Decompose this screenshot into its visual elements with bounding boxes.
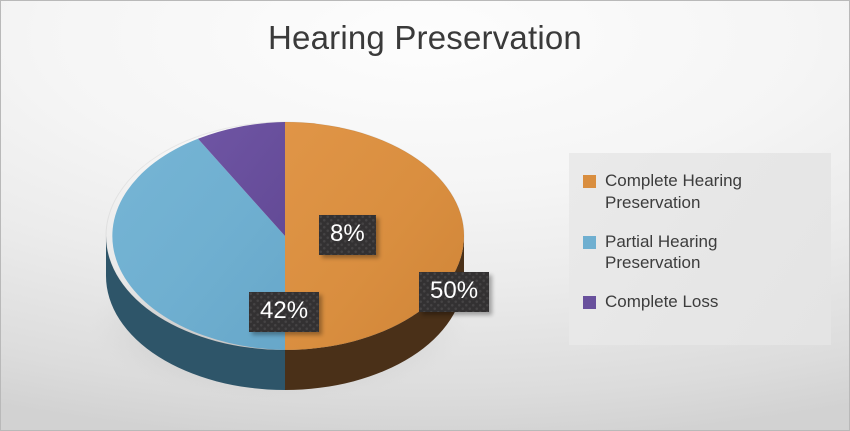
legend-swatch-icon (583, 236, 596, 249)
legend-item-complete-hearing-preservation[interactable]: Complete Hearing Preservation (583, 170, 817, 214)
data-label-complete-loss: 8% (319, 215, 376, 255)
chart-title: Hearing Preservation (1, 19, 849, 57)
data-label-partial-hearing-preservation: 42% (249, 292, 319, 332)
legend-item-partial-hearing-preservation[interactable]: Partial Hearing Preservation (583, 231, 817, 275)
legend-swatch-icon (583, 296, 596, 309)
legend-item-label: Complete Hearing Preservation (605, 170, 790, 214)
pie-plot-area: 50% 42% 8% (81, 76, 511, 416)
chart-legend: Complete Hearing Preservation Partial He… (569, 153, 831, 345)
legend-item-complete-loss[interactable]: Complete Loss (583, 291, 817, 313)
legend-item-label: Partial Hearing Preservation (605, 231, 790, 275)
legend-swatch-icon (583, 175, 596, 188)
pie-chart-figure: Hearing Preservation (0, 0, 850, 431)
legend-item-label: Complete Loss (605, 291, 718, 313)
pie-graphic (81, 76, 511, 416)
data-label-complete-hearing-preservation: 50% (419, 272, 489, 312)
